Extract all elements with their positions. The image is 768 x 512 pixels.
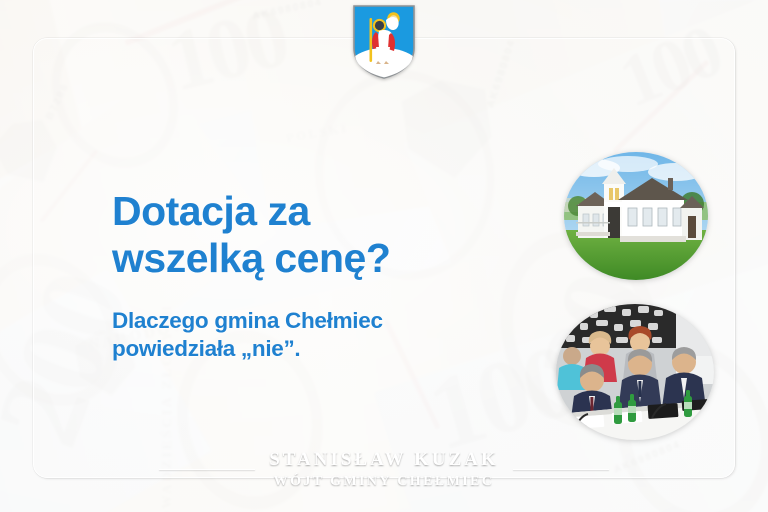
headline-line-2: wszelką cenę? — [112, 235, 542, 282]
subheadline-line-2: powiedziała „nie”. — [112, 335, 542, 363]
poster-canvas: 200 100 200 100 100 AK6980804 AK6980804 … — [0, 0, 768, 512]
photo-council-session — [556, 304, 714, 440]
signature-text: STANISŁAW KUZAK WÓJT GMINY CHEŁMIEC — [269, 449, 499, 490]
signature-role: WÓJT GMINY CHEŁMIEC — [269, 473, 499, 491]
coat-of-arms-icon — [352, 4, 416, 80]
text-block: Dotacja za wszelką cenę? Dlaczego gmina … — [112, 188, 542, 363]
signature-block: STANISŁAW KUZAK WÓJT GMINY CHEŁMIEC — [0, 449, 768, 490]
headline-line-1: Dotacja za — [112, 188, 310, 234]
signature-name: STANISŁAW KUZAK — [269, 449, 499, 471]
page-subtitle: Dlaczego gmina Chełmiec powiedziała „nie… — [112, 307, 542, 363]
signature-rule-right — [513, 469, 609, 471]
page-title: Dotacja za wszelką cenę? — [112, 188, 542, 281]
signature-rule-left — [159, 469, 255, 471]
subheadline-line-1: Dlaczego gmina Chełmiec — [112, 308, 383, 333]
photo-school-building — [564, 152, 708, 280]
